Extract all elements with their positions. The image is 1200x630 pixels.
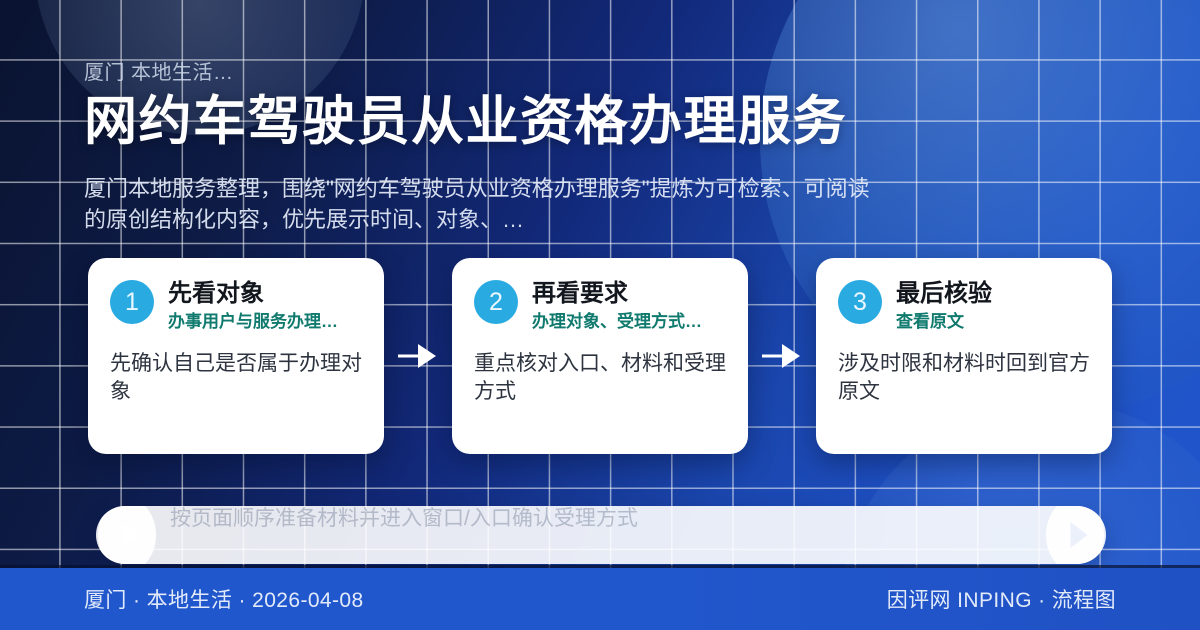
step-heading-group: 最后核验 查看原文 xyxy=(896,280,1090,332)
step-subtitle: 查看原文 xyxy=(896,312,1090,332)
footer-right-text: 因评网 INPING · 流程图 xyxy=(887,584,1116,614)
breadcrumb: 厦门 本地生活… xyxy=(84,56,904,85)
footer-left-text: 厦门 · 本地生活 · 2026-04-08 xyxy=(84,584,364,614)
note-knob-right-arrow-icon xyxy=(1071,522,1088,548)
note-knob-right xyxy=(1046,506,1104,564)
footer: 厦门 · 本地生活 · 2026-04-08 因评网 INPING · 流程图 xyxy=(0,568,1200,630)
arrow-right-icon xyxy=(762,341,802,371)
step-card-2[interactable]: 2 再看要求 办理对象、受理方式… 重点核对入口、材料和受理方式 xyxy=(452,258,748,454)
poster-canvas: 厦门 本地生活… 网约车驾驶员从业资格办理服务 厦门本地服务整理，围绕"网约车驾… xyxy=(0,0,1200,630)
step-number-badge: 1 xyxy=(110,280,154,324)
step-body: 重点核对入口、材料和受理方式 xyxy=(474,350,726,406)
step-header: 1 先看对象 办事用户与服务办理… xyxy=(110,280,362,332)
step-connector-1 xyxy=(384,258,452,454)
step-number-badge: 2 xyxy=(474,280,518,324)
page-title: 网约车驾驶员从业资格办理服务 xyxy=(84,91,904,152)
steps-row: 1 先看对象 办事用户与服务办理… 先确认自己是否属于办理对象 2 再看要求 办… xyxy=(88,258,1112,454)
note-knob-left xyxy=(98,506,156,564)
step-heading-group: 先看对象 办事用户与服务办理… xyxy=(168,280,362,332)
header: 厦门 本地生活… 网约车驾驶员从业资格办理服务 厦门本地服务整理，围绕"网约车驾… xyxy=(84,56,904,235)
step-connector-2 xyxy=(748,258,816,454)
step-card-1[interactable]: 1 先看对象 办事用户与服务办理… 先确认自己是否属于办理对象 xyxy=(88,258,384,454)
step-title: 先看对象 xyxy=(168,281,362,308)
step-subtitle: 办事用户与服务办理… xyxy=(168,312,362,332)
step-title: 最后核验 xyxy=(896,281,1090,308)
step-number-badge: 3 xyxy=(838,280,882,324)
step-body: 涉及时限和材料时回到官方原文 xyxy=(838,350,1090,406)
step-header: 2 再看要求 办理对象、受理方式… xyxy=(474,280,726,332)
bottom-note-bar: 按页面顺序准备材料并进入窗口/入口确认受理方式 xyxy=(96,506,1106,564)
bottom-note-text: 按页面顺序准备材料并进入窗口/入口确认受理方式 xyxy=(170,506,638,533)
page-summary: 厦门本地服务整理，围绕"网约车驾驶员从业资格办理服务"提炼为可检索、可阅读的原创… xyxy=(84,174,874,235)
note-knob-left-arrow-icon xyxy=(123,522,140,548)
step-subtitle: 办理对象、受理方式… xyxy=(532,312,726,332)
step-heading-group: 再看要求 办理对象、受理方式… xyxy=(532,280,726,332)
arrow-right-icon xyxy=(398,341,438,371)
step-title: 再看要求 xyxy=(532,281,726,308)
step-card-3[interactable]: 3 最后核验 查看原文 涉及时限和材料时回到官方原文 xyxy=(816,258,1112,454)
step-header: 3 最后核验 查看原文 xyxy=(838,280,1090,332)
step-body: 先确认自己是否属于办理对象 xyxy=(110,350,362,406)
